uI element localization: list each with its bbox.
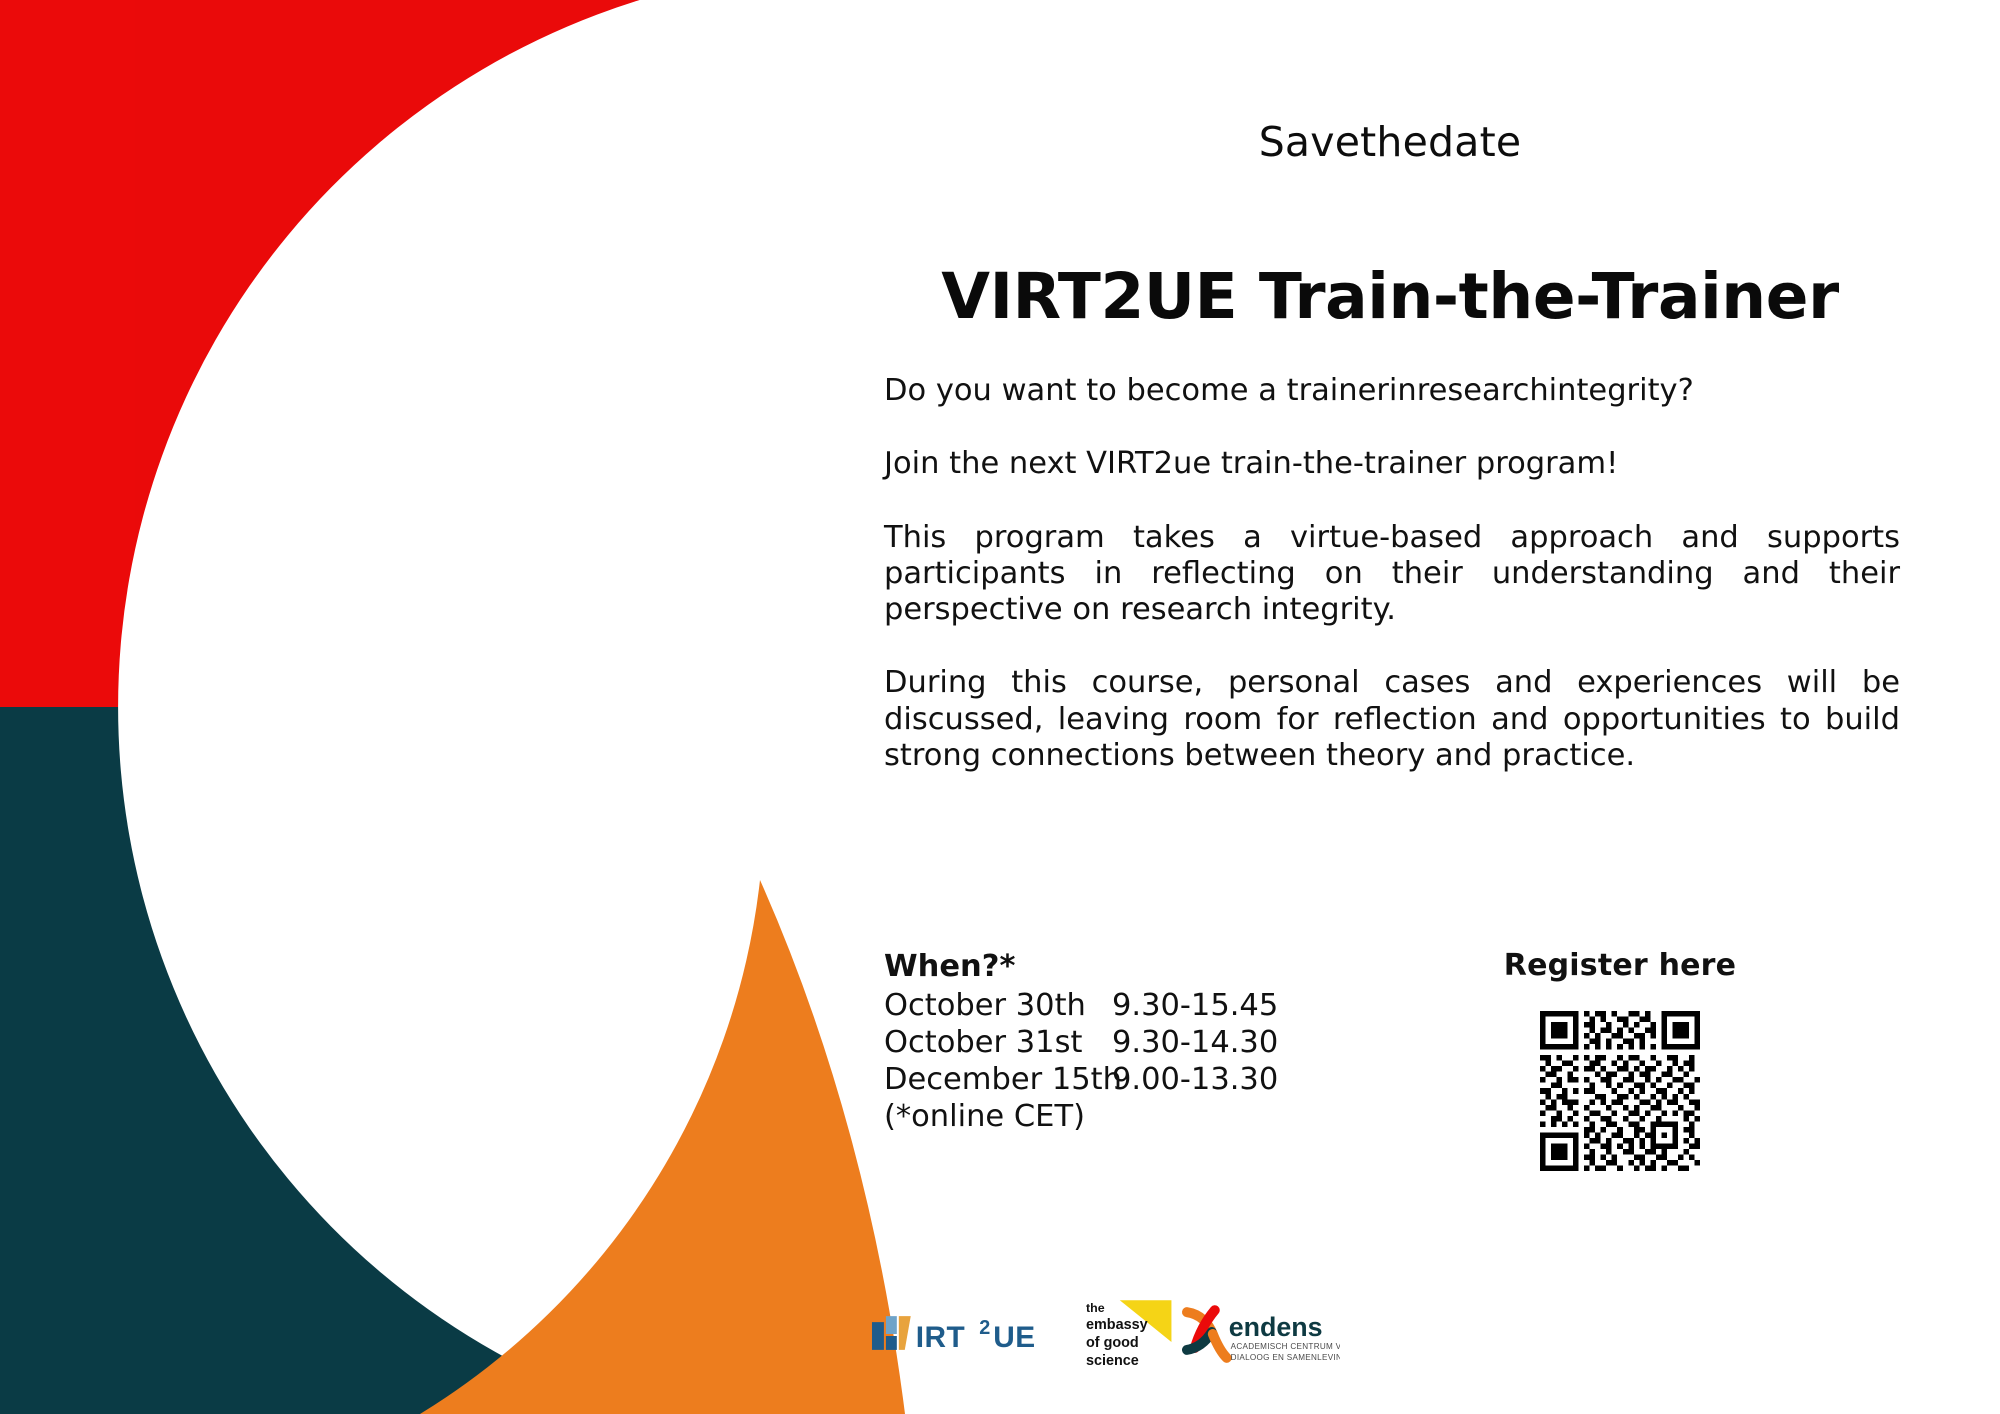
virt2ue-logo: IRT 2 UE [870,1308,1084,1364]
svg-text:DIALOOG EN SAMENLEVING: DIALOOG EN SAMENLEVING [1231,1353,1340,1362]
orange-arc-shape [0,0,905,1414]
poster-content: Savethedate VIRT2UE Train-the-Trainer Do… [880,0,1940,1414]
when-time: 9.30-14.30 [1112,1024,1278,1061]
when-date: October 30th [884,987,1112,1024]
white-circle-cutout-shape [118,0,1000,1414]
poster-root: Savethedate VIRT2UE Train-the-Trainer Do… [0,0,2000,1414]
paragraph-course-description: During this course, personal cases and e… [884,665,1900,774]
when-time: 9.00-13.30 [1112,1061,1278,1098]
svg-text:ACADEMISCH CENTRUM VOOR: ACADEMISCH CENTRUM VOOR [1231,1342,1340,1351]
body-copy: Do you want to become a trainerinresearc… [884,373,1900,774]
when-row: October 31st 9.30-14.30 [884,1024,1404,1061]
save-the-date-kicker: Savethedate [880,120,1900,165]
footer-logos: IRT 2 UE the embassy of good science end… [870,1288,1340,1384]
when-row: October 30th 9.30-15.45 [884,987,1404,1024]
svg-text:UE: UE [993,1321,1035,1354]
when-row: December 15th 9.00-13.30 [884,1061,1404,1098]
svg-text:endens: endens [1229,1312,1323,1342]
paragraph-join-invite: Join the next VIRT2ue train-the-trainer … [884,446,1900,482]
svg-text:science: science [1086,1353,1139,1369]
paragraph-program-description: This program takes a virtue-based approa… [884,520,1900,629]
svg-text:the: the [1086,1301,1105,1315]
corner-circles-graphic [0,0,1000,1414]
when-section-title: When?* [884,948,1404,985]
qr-code-icon[interactable] [1540,1011,1700,1171]
when-date: October 31st [884,1024,1112,1061]
page-title: VIRT2UE Train-the-Trainer [880,264,1900,330]
red-block-shape [0,0,720,707]
when-date: December 15th [884,1061,1112,1098]
svg-text:IRT: IRT [916,1321,966,1354]
teal-block-shape [0,707,720,1414]
when-timezone-note: (*online CET) [884,1098,1404,1135]
white-circle-shape [160,0,1000,1414]
register-section: Register here [1440,948,1800,1171]
svg-text:2: 2 [979,1317,990,1339]
svg-text:embassy: embassy [1086,1317,1148,1333]
orange-bottom-wedge-shape [0,880,905,1414]
paragraph-intro-question: Do you want to become a trainerinresearc… [884,373,1900,409]
when-time: 9.30-15.45 [1112,987,1278,1024]
red-inner-tone-shape [135,0,720,707]
register-here-label: Register here [1440,948,1800,983]
xendens-logo: endens ACADEMISCH CENTRUM VOOR DIALOOG E… [1181,1304,1340,1368]
embassy-of-good-science-logo: the embassy of good science [1084,1298,1175,1374]
svg-text:of good: of good [1086,1335,1139,1351]
when-section: When?* October 30th 9.30-15.45 October 3… [884,948,1404,1135]
